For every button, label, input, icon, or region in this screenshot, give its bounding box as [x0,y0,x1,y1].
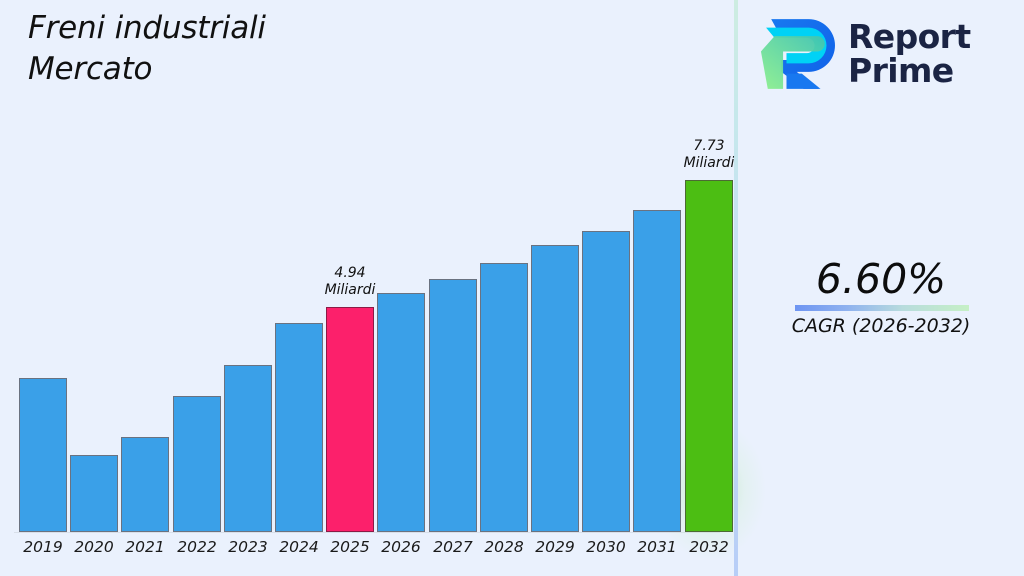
bar-2022[interactable] [173,396,221,532]
bar-2030[interactable] [582,231,630,532]
bar-2026[interactable] [377,293,425,532]
x-tick-2032: 2032 [679,538,739,556]
bar-2027[interactable] [429,279,477,532]
x-tick-2026: 2026 [371,538,431,556]
bar-2021[interactable] [121,437,169,532]
bar-2031[interactable] [633,210,681,532]
bar-2019[interactable] [19,378,67,532]
x-tick-2021: 2021 [115,538,175,556]
cagr-value: 6.60% [738,255,1024,303]
bar-2025[interactable] [326,307,374,532]
bar-2028[interactable] [480,263,528,532]
brand-logo-text: Report Prime [848,20,971,89]
bar-2029[interactable] [531,245,579,532]
x-tick-2031: 2031 [627,538,687,556]
cagr-label: CAGR (2026-2032) [738,315,1024,337]
report-prime-logo-mark-icon [752,14,838,94]
bar-2020[interactable] [70,455,118,532]
side-panel: Report Prime 6.60% CAGR (2026-2032) [738,0,1024,576]
bar-2024[interactable] [275,323,323,532]
brand-logo: Report Prime [752,8,1010,100]
chart-panel: Freni industriali Mercato 20192020202120… [0,0,735,576]
cagr-divider [795,305,969,311]
screenshot-root: Freni industriali Mercato 20192020202120… [0,0,1024,576]
x-axis-line [14,532,720,533]
bar-2032[interactable] [685,180,733,532]
bar-2023[interactable] [224,365,272,532]
bar-chart-plot: 20192020202120222023202420254.94 Miliard… [0,0,735,576]
